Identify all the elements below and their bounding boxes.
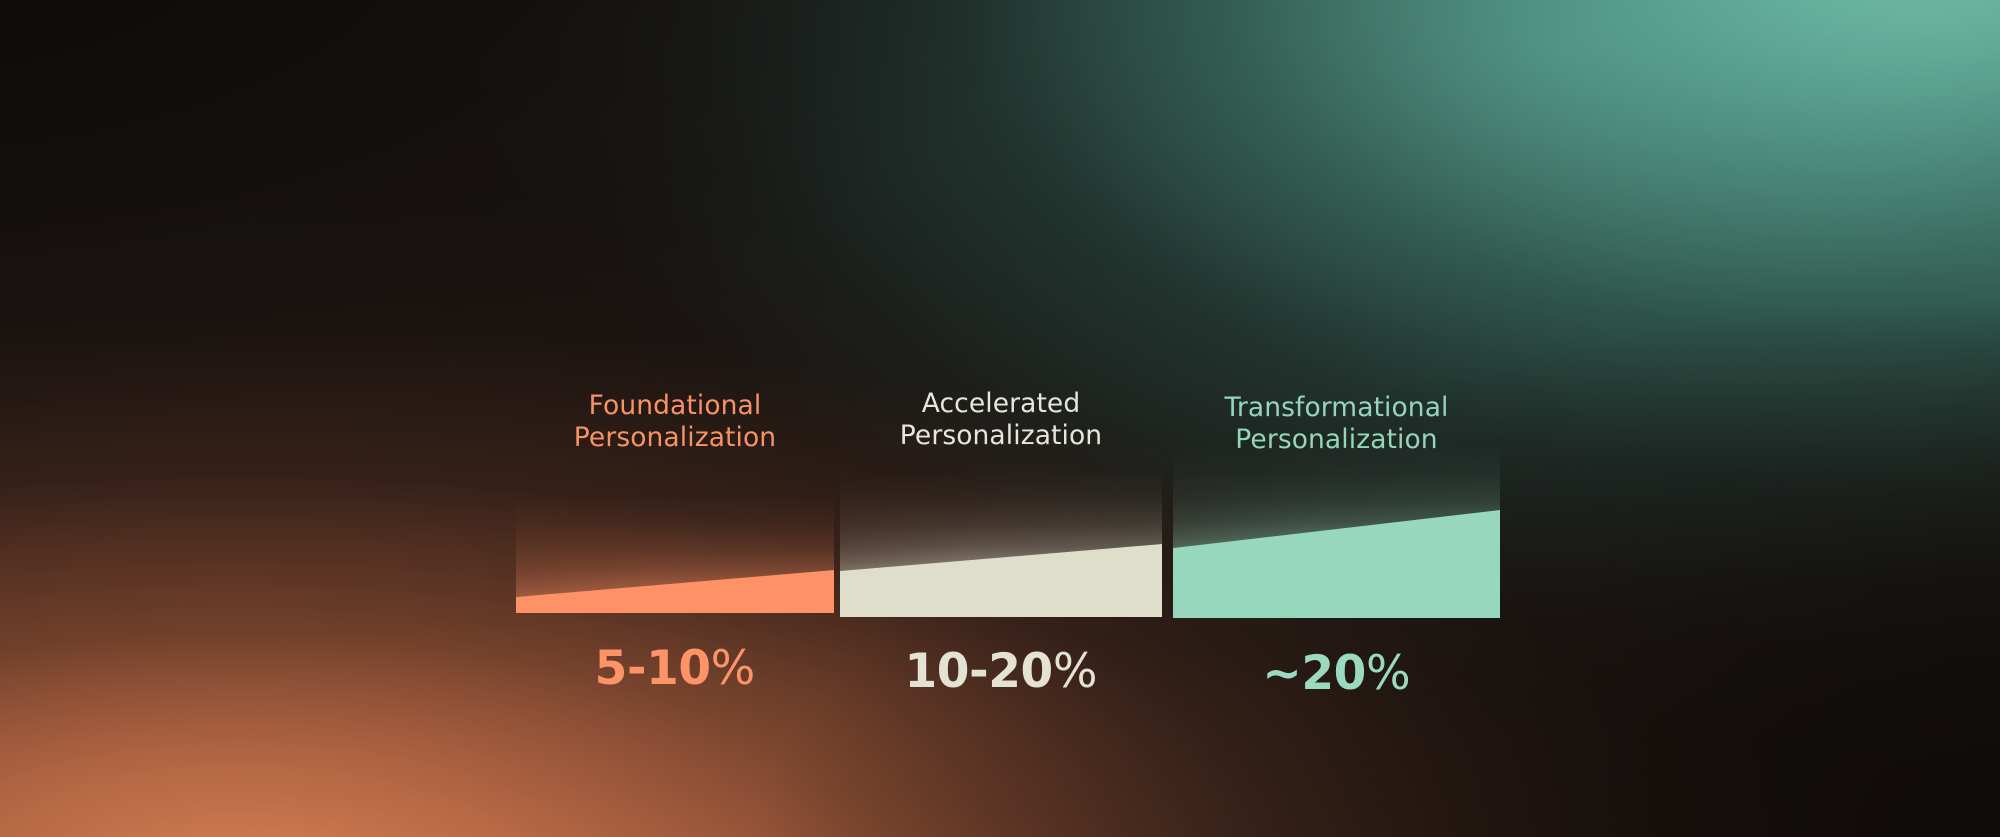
panel-foundational-label: Foundational Personalization: [516, 390, 834, 454]
panel-foundational-value-percent-sign: %: [711, 641, 756, 696]
personalization-maturity-chart: Foundational Personalization5-10%Acceler…: [0, 0, 2000, 837]
panel-foundational-value-number: 5-10: [595, 641, 711, 696]
slide-canvas: Foundational Personalization5-10%Acceler…: [0, 0, 2000, 837]
panel-transformational-value: ~20%: [1173, 650, 1500, 697]
panel-transformational-label: Transformational Personalization: [1173, 392, 1500, 456]
panel-accelerated[interactable]: Accelerated Personalization10-20%: [840, 0, 1162, 837]
panel-accelerated-value: 10-20%: [840, 648, 1162, 695]
panel-accelerated-value-number: 10-20: [905, 644, 1053, 699]
panel-accelerated-value-percent-sign: %: [1053, 644, 1098, 699]
panel-transformational[interactable]: Transformational Personalization~20%: [1173, 0, 1500, 837]
panel-accelerated-label: Accelerated Personalization: [840, 388, 1162, 452]
panel-transformational-value-percent-sign: %: [1366, 646, 1411, 701]
panel-foundational[interactable]: Foundational Personalization5-10%: [516, 0, 834, 837]
panel-foundational-value: 5-10%: [516, 645, 834, 692]
panel-transformational-value-number: ~20: [1262, 646, 1366, 701]
